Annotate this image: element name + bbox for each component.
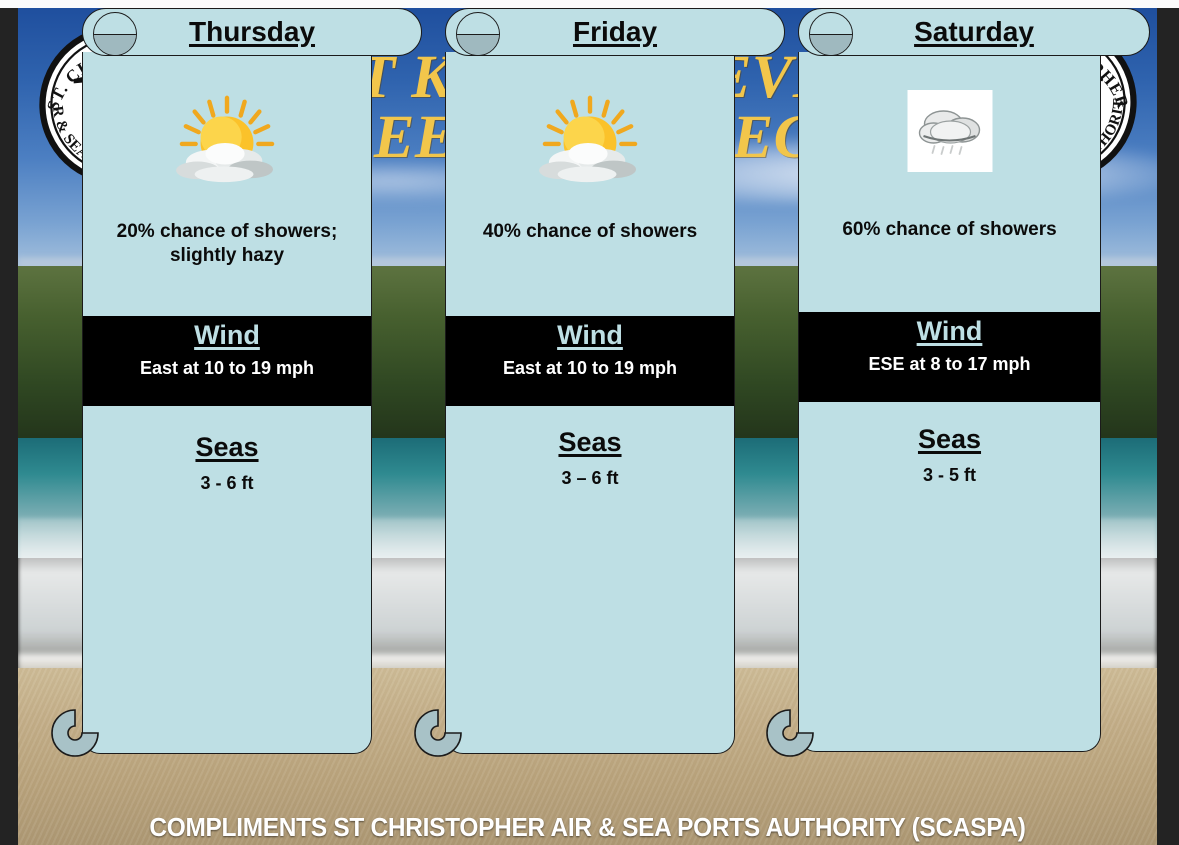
wind-value: ESE at 8 to 17 mph — [799, 347, 1100, 375]
card-body-saturday: 60% chance of showers Wind ESE at 8 to 1… — [798, 52, 1101, 752]
wind-section: Wind ESE at 8 to 17 mph — [799, 312, 1100, 402]
conditions-zone: 60% chance of showers — [799, 52, 1100, 312]
conditions-zone: 20% chance of showers; slightly hazy — [83, 52, 371, 316]
seas-section: Seas 3 - 5 ft — [799, 424, 1100, 486]
day-label: Thursday — [189, 16, 315, 48]
window-chrome-left — [0, 8, 18, 845]
window-chrome-right — [1157, 8, 1179, 845]
seas-value: 3 - 5 ft — [799, 465, 1100, 486]
conditions-text: 60% chance of showers — [799, 218, 1100, 242]
sun-behind-cloud-icon — [168, 92, 286, 188]
wind-label: Wind — [799, 312, 1100, 347]
wind-value: East at 10 to 19 mph — [83, 351, 371, 379]
sun-behind-cloud-icon — [531, 92, 649, 188]
seas-value: 3 - 6 ft — [83, 473, 371, 494]
card-body-thursday: 20% chance of showers; slightly hazy Win… — [82, 52, 372, 754]
seas-section: Seas 3 – 6 ft — [446, 427, 734, 489]
scroll-curl-bottom-icon — [50, 708, 100, 758]
cloud-shape — [539, 143, 636, 182]
day-label: Saturday — [914, 16, 1034, 48]
day-label: Friday — [573, 16, 657, 48]
scroll-curl-bottom-icon — [413, 708, 463, 758]
conditions-text: 20% chance of showers; slightly hazy — [83, 220, 371, 268]
poster-footer: COMPLIMENTS ST CHRISTOPHER AIR & SEA POR… — [52, 812, 1123, 843]
wind-section: Wind East at 10 to 19 mph — [83, 316, 371, 406]
forecast-poster: ST. CHRISTOPHER AIR & SEA PORTS AUTHORIT… — [18, 8, 1157, 845]
scroll-curl-top-icon — [809, 12, 853, 56]
conditions-text: 40% chance of showers — [446, 220, 734, 244]
screenshot-stage: ST. CHRISTOPHER AIR & SEA PORTS AUTHORIT… — [0, 0, 1179, 845]
scroll-curl-bottom-icon — [765, 708, 815, 758]
wind-value: East at 10 to 19 mph — [446, 351, 734, 379]
wind-section: Wind East at 10 to 19 mph — [446, 316, 734, 406]
window-chrome-top — [0, 0, 1179, 8]
seas-section: Seas 3 - 6 ft — [83, 432, 371, 494]
conditions-zone: 40% chance of showers — [446, 52, 734, 316]
rain-drops — [932, 146, 961, 154]
scroll-curl-top-icon — [456, 12, 500, 56]
scroll-curl-top-icon — [93, 12, 137, 56]
rain-cloud-icon — [907, 90, 992, 172]
cloud-shape — [176, 143, 273, 182]
card-body-friday: 40% chance of showers Wind East at 10 to… — [445, 52, 735, 754]
wind-label: Wind — [83, 316, 371, 351]
cloud-shape — [919, 111, 979, 143]
wind-label: Wind — [446, 316, 734, 351]
seas-label: Seas — [446, 427, 734, 458]
seas-value: 3 – 6 ft — [446, 468, 734, 489]
seas-label: Seas — [83, 432, 371, 463]
seas-label: Seas — [799, 424, 1100, 455]
